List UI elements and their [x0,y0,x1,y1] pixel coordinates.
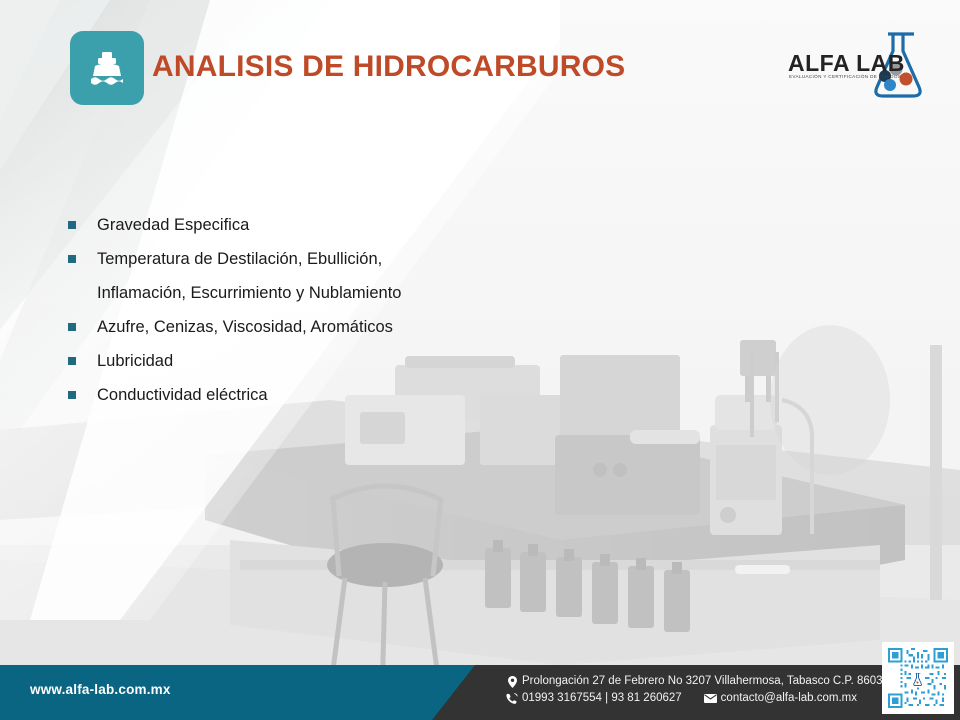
list-item: Lubricidad [68,350,538,372]
logo-wordmark: ALFA LAB [788,50,905,77]
bullet-square-icon [68,323,76,331]
bullet-square-icon [68,255,76,263]
phone-icon [505,693,519,705]
qr-code-card[interactable] [882,642,954,714]
feature-list: Gravedad Especifica Temperatura de Desti… [68,214,538,418]
list-item: Azufre, Cenizas, Viscosidad, Aromáticos [68,316,538,338]
ship-icon [85,46,129,90]
list-item-label: Lubricidad [97,350,173,372]
slide-header: ANALISIS DE HIDROCARBUROS ALFA LAB EVALU… [0,0,960,130]
page-title: ANALISIS DE HIDROCARBUROS [152,50,625,84]
envelope-icon [704,694,718,703]
slide: ANALISIS DE HIDROCARBUROS ALFA LAB EVALU… [0,0,960,720]
alfa-lab-logo: ALFA LAB EVALUACIÓN Y CERTIFICACIÓN DE F… [784,26,944,110]
list-item: Gravedad Especifica [68,214,538,236]
ship-icon-tile [70,31,144,105]
list-item-label: Temperatura de Destilación, Ebullición, [97,248,382,270]
list-item: Conductividad eléctrica [68,384,538,406]
address-line: Prolongación 27 de Febrero No 3207 Villa… [505,673,889,690]
phone-email-line: 01993 3167554 | 93 81 260627 contacto@al… [505,690,889,707]
address-text: Prolongación 27 de Febrero No 3207 Villa… [522,673,889,690]
list-item: Temperatura de Destilación, Ebullición, [68,248,538,270]
phone-text: 01993 3167554 | 93 81 260627 [522,690,682,707]
list-item-label: Gravedad Especifica [97,214,249,236]
bullet-square-icon [68,357,76,365]
bullet-square-icon-placeholder [68,289,76,297]
location-pin-icon [505,676,519,688]
list-item-label: Conductividad eléctrica [97,384,268,406]
list-item-label: Azufre, Cenizas, Viscosidad, Aromáticos [97,316,393,338]
contact-info: Prolongación 27 de Febrero No 3207 Villa… [505,673,889,707]
list-item-label: Inflamación, Escurrimiento y Nublamiento [97,282,401,304]
bullet-square-icon [68,221,76,229]
qr-code-icon[interactable] [888,648,948,708]
list-item-continuation: Inflamación, Escurrimiento y Nublamiento [68,282,538,304]
email-text[interactable]: contacto@alfa-lab.com.mx [721,690,857,707]
bullet-square-icon [68,391,76,399]
website-link[interactable]: www.alfa-lab.com.mx [30,682,171,697]
footer-bar: www.alfa-lab.com.mx Prolongación 27 de F… [0,665,960,720]
logo-tagline: EVALUACIÓN Y CERTIFICACIÓN DE FLUIDOS [789,74,901,79]
